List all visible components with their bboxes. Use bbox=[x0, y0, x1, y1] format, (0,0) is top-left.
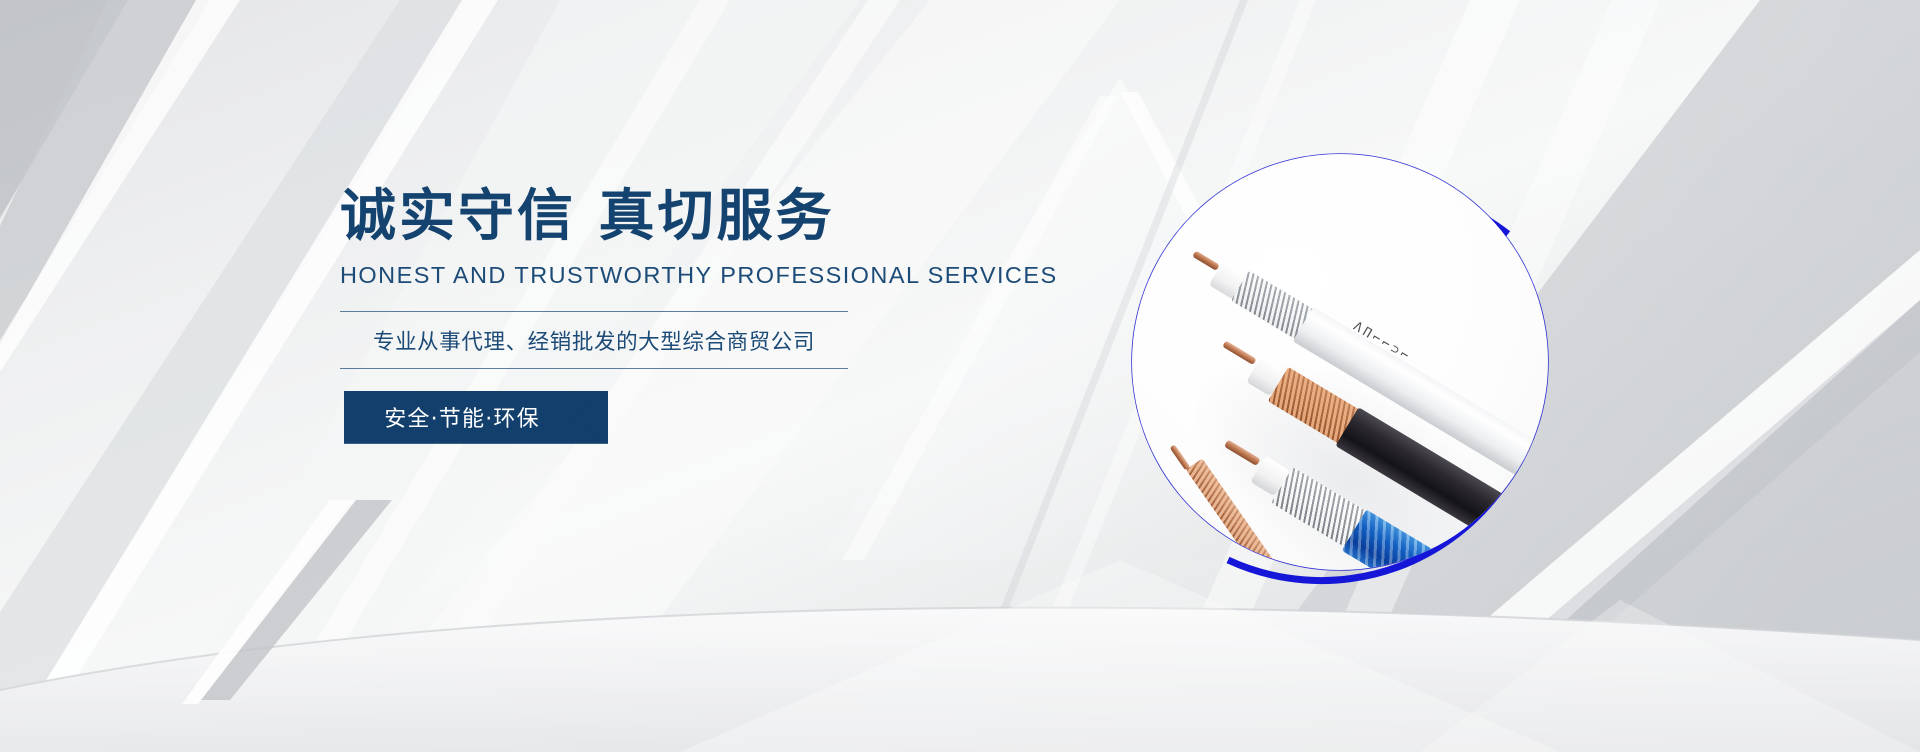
feature-ribbon: 安全·节能·环保 bbox=[344, 391, 608, 444]
background-layer bbox=[0, 0, 1920, 752]
cable-product-photo: ΛΠ⌐⌐⊃⌐ bbox=[1132, 154, 1548, 570]
black-cable-copper-core bbox=[1222, 340, 1256, 365]
copper-cable-core bbox=[1170, 444, 1191, 470]
white-cable-copper-core bbox=[1192, 250, 1220, 270]
blue-cable-copper-core bbox=[1224, 440, 1261, 466]
ribbon-label: 安全·节能·环保 bbox=[384, 401, 568, 433]
banner-content: 诚实守信 真切服务 HONEST AND TRUSTWORTHY PROFESS… bbox=[340, 186, 920, 444]
banner-subheadline: HONEST AND TRUSTWORTHY PROFESSIONAL SERV… bbox=[340, 262, 920, 289]
hero-banner: 诚实守信 真切服务 HONEST AND TRUSTWORTHY PROFESS… bbox=[0, 0, 1920, 752]
product-medallion: ΛΠ⌐⌐⊃⌐ bbox=[1132, 154, 1548, 570]
banner-headline: 诚实守信 真切服务 bbox=[340, 186, 920, 249]
divider-top bbox=[340, 311, 848, 312]
background-geometry bbox=[0, 0, 1920, 752]
divider-bottom bbox=[340, 368, 848, 369]
banner-description: 专业从事代理、经销批发的大型综合商贸公司 bbox=[340, 312, 848, 368]
banner-description-block: 专业从事代理、经销批发的大型综合商贸公司 bbox=[340, 311, 848, 369]
